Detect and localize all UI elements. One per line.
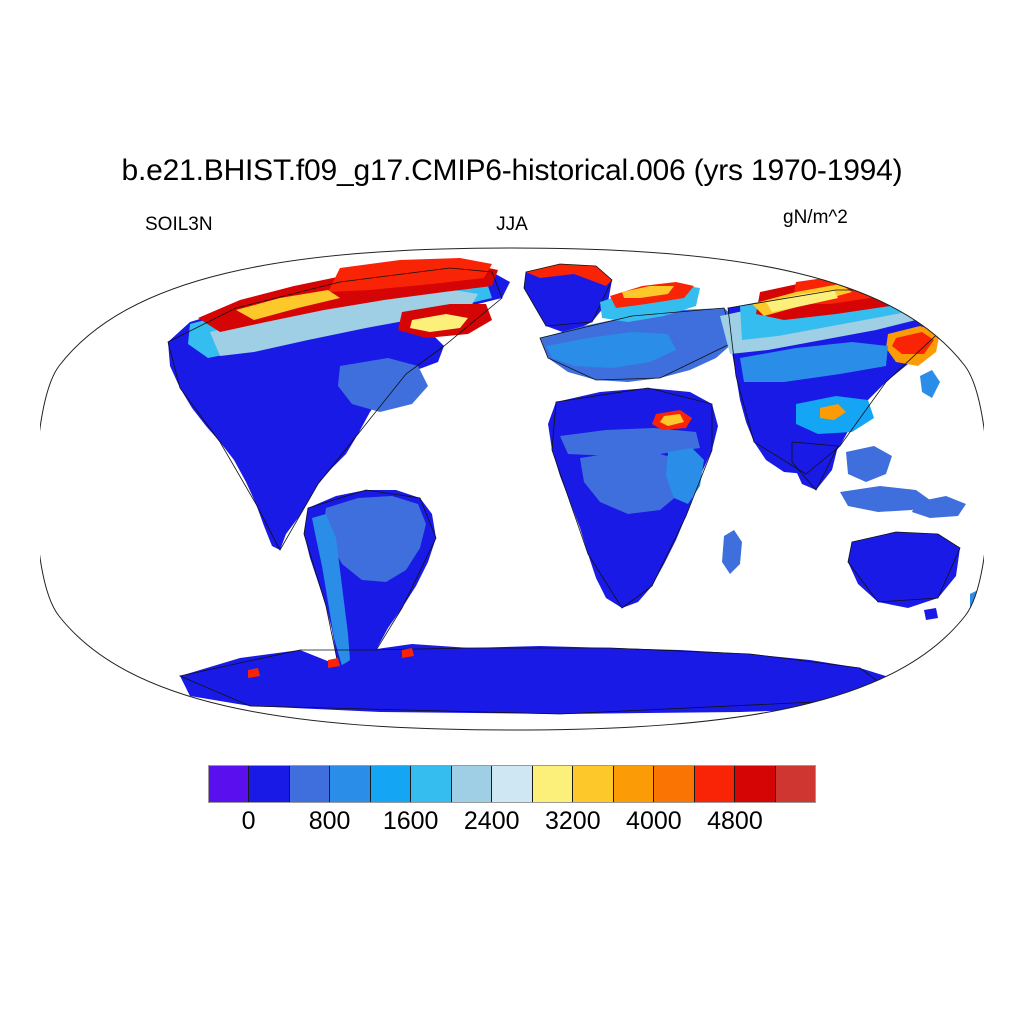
colorbar-segment-4[interactable]: [371, 766, 411, 802]
colorbar-segment-14[interactable]: [776, 766, 815, 802]
colorbar-segment-7[interactable]: [492, 766, 532, 802]
colorbar-segment-3[interactable]: [330, 766, 370, 802]
colorbar-segment-12[interactable]: [695, 766, 735, 802]
colorbar-tick-labels: 080016002400320040004800: [208, 806, 816, 840]
colorbar-tick-800: 800: [309, 806, 351, 836]
map-svg: [40, 246, 984, 732]
colorbar-tick-4000: 4000: [626, 806, 682, 836]
colorbar[interactable]: [208, 765, 816, 803]
colorbar-segment-5[interactable]: [411, 766, 451, 802]
season-label: JJA: [0, 214, 1024, 236]
figure-canvas: b.e21.BHIST.f09_g17.CMIP6-historical.006…: [0, 0, 1024, 1024]
colorbar-segment-1[interactable]: [249, 766, 289, 802]
map-data-layer: [40, 246, 984, 732]
units-label: gN/m^2: [783, 207, 848, 229]
world-map: [40, 246, 984, 732]
colorbar-segment-8[interactable]: [533, 766, 573, 802]
colorbar-tick-1600: 1600: [383, 806, 439, 836]
colorbar-segment-10[interactable]: [614, 766, 654, 802]
colorbar-segment-6[interactable]: [452, 766, 492, 802]
colorbar-segment-13[interactable]: [735, 766, 775, 802]
page-title: b.e21.BHIST.f09_g17.CMIP6-historical.006…: [0, 152, 1024, 190]
colorbar-segment-9[interactable]: [573, 766, 613, 802]
colorbar-tick-3200: 3200: [545, 806, 601, 836]
colorbar-tick-4800: 4800: [707, 806, 763, 836]
colorbar-tick-2400: 2400: [464, 806, 520, 836]
colorbar-segment-2[interactable]: [290, 766, 330, 802]
colorbar-tick-0: 0: [242, 806, 256, 836]
island-tasmania: [924, 608, 938, 620]
colorbar-segment-0[interactable]: [209, 766, 249, 802]
colorbar-segment-11[interactable]: [654, 766, 694, 802]
